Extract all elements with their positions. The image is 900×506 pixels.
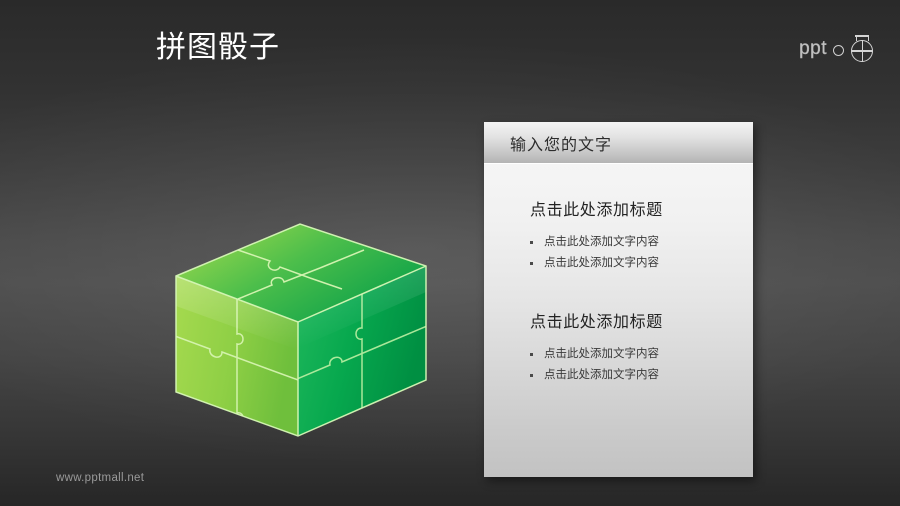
green-jigsaw-cube [172,210,438,446]
footer-url: www.pptmall.net [56,472,144,484]
bullet-dot-icon [530,374,533,377]
list-item-label: 点击此处添加文字内容 [544,348,659,360]
list-item: 点击此处添加文字内容 [504,365,733,386]
block-title: 点击此处添加标题 [530,312,733,334]
list-item-label: 点击此处添加文字内容 [544,369,659,381]
panel-header-label: 输入您的文字 [510,131,612,155]
content-block-2: 点击此处添加标题 点击此处添加文字内容 点击此处添加文字内容 [504,312,733,386]
bullet-dot-icon [530,262,533,265]
logo-wordmark: ppt [799,39,827,58]
circle-o-icon [833,45,844,56]
text-panel: 输入您的文字 点击此处添加标题 点击此处添加文字内容 点击此处添加文字内容 点 [484,122,753,477]
list-item: 点击此处添加文字内容 [504,253,733,274]
bullet-list: 点击此处添加文字内容 点击此处添加文字内容 [504,344,733,386]
panel-header: 输入您的文字 [484,122,753,164]
slide-canvas: 拼图骰子 ppt [0,0,900,506]
bullet-dot-icon [530,241,533,244]
pptmall-globe-icon [850,33,876,63]
page-title: 拼图骰子 [156,28,280,68]
bullet-list: 点击此处添加文字内容 点击此处添加文字内容 [504,232,733,274]
block-title: 点击此处添加标题 [530,200,733,222]
list-item: 点击此处添加文字内容 [504,344,733,365]
list-item-label: 点击此处添加文字内容 [544,236,659,248]
brand-logo: ppt [799,30,876,66]
list-item: 点击此处添加文字内容 [504,232,733,253]
content-block-1: 点击此处添加标题 点击此处添加文字内容 点击此处添加文字内容 [504,200,733,274]
bullet-dot-icon [530,353,533,356]
panel-body: 点击此处添加标题 点击此处添加文字内容 点击此处添加文字内容 点击此处添加标题 [484,164,753,477]
list-item-label: 点击此处添加文字内容 [544,257,659,269]
